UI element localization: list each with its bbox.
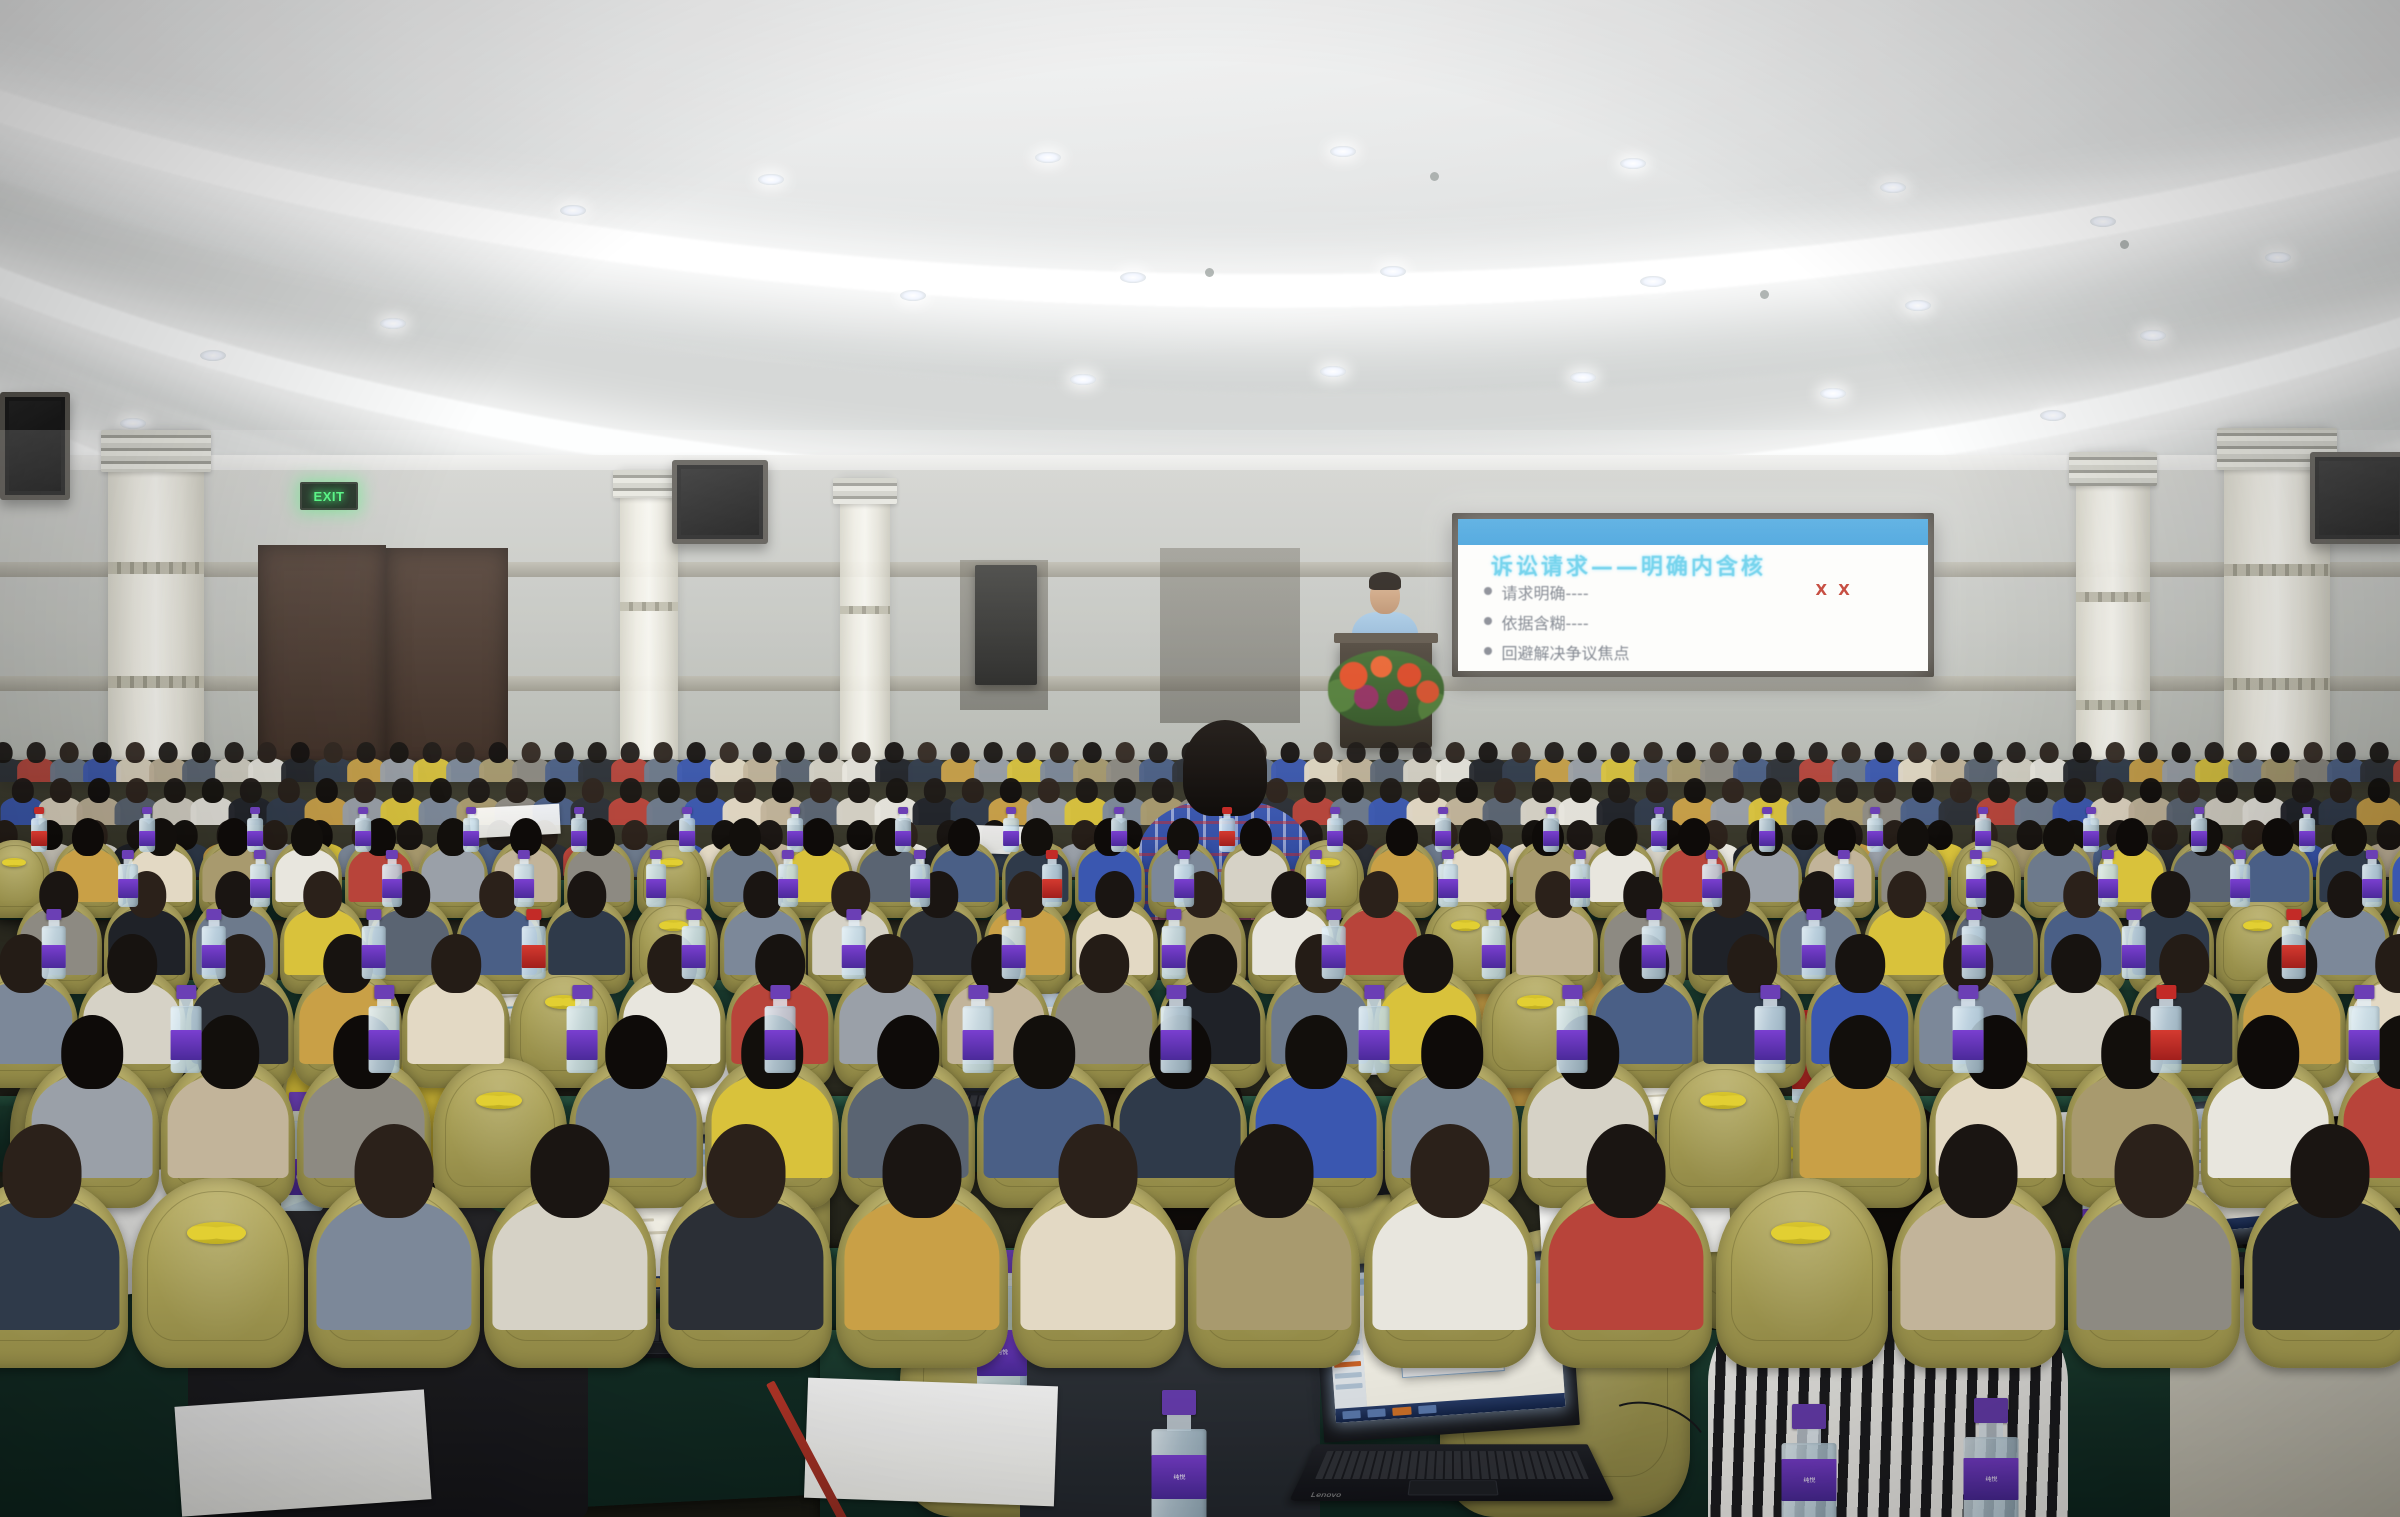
attendee-head (2063, 778, 2085, 803)
water-bottle[interactable] (367, 985, 401, 1072)
bottle-brand-text: 纯悦 (1173, 1474, 1185, 1480)
attendee-distant (1071, 778, 1102, 818)
attendee-head (1545, 742, 1564, 763)
attendee-torso (407, 982, 504, 1064)
attendee-head (125, 778, 147, 803)
water-bottle[interactable] (1357, 985, 1391, 1072)
downlight-icon (1820, 388, 1846, 399)
attendee-torso (1800, 1075, 1921, 1178)
bottle-label (2098, 879, 2118, 898)
water-bottle[interactable] (840, 909, 867, 978)
bottle-brand-text: 纯悦 (1803, 1477, 1815, 1483)
water-bottle[interactable] (513, 850, 535, 906)
attendee-distant (615, 778, 646, 818)
attendee-head (1075, 778, 1097, 803)
attendee (675, 1124, 816, 1305)
attendee-head (1776, 742, 1795, 763)
bottle-label (1111, 831, 1127, 846)
attendee-head (621, 742, 640, 763)
bottle-label (681, 945, 706, 969)
attendee-head (1587, 1124, 1666, 1218)
attendee-distant (1945, 778, 1976, 818)
sprinkler-icon (1430, 172, 1439, 181)
wall-monitor-center-left (672, 460, 768, 544)
attendee-head (1079, 934, 1129, 993)
attendee-head (87, 778, 109, 803)
water-bottle-red-cap[interactable] (2280, 909, 2307, 978)
water-bottle[interactable]: 纯悦 (1778, 1404, 1840, 1517)
bottle-label (1641, 945, 1666, 969)
attendee-distant (2249, 778, 2280, 818)
attendee-head (1569, 778, 1591, 803)
bottle-label (1327, 831, 1343, 846)
water-bottle[interactable] (1320, 909, 1347, 978)
water-bottle[interactable] (777, 850, 799, 906)
attendee-head (1493, 778, 1515, 803)
bottle-cap (1806, 909, 1821, 920)
attendee-distant (2135, 778, 2166, 818)
water-bottle[interactable] (763, 985, 797, 1072)
attendee (0, 1124, 113, 1305)
attendee-head (1721, 778, 1743, 803)
bottle-label (1174, 879, 1194, 898)
water-bottle[interactable] (1758, 807, 1776, 852)
downlight-icon (1570, 372, 1596, 383)
attendee-distant (947, 742, 973, 776)
water-bottle[interactable] (570, 807, 588, 852)
attendee-distant (2333, 742, 2359, 776)
column-trim-strip (840, 606, 890, 614)
bottle-cap (1178, 850, 1190, 859)
water-bottle[interactable] (354, 807, 372, 852)
water-bottle[interactable] (1305, 850, 1327, 906)
downlight-icon (1320, 366, 1346, 377)
chair-bow (1700, 1092, 1746, 1109)
water-bottle[interactable] (2120, 909, 2147, 978)
chair-bow (187, 1222, 245, 1244)
attendee-head (531, 1124, 610, 1218)
column-trim-strip (620, 602, 678, 611)
bottle-cap (1006, 909, 1021, 920)
attendee-torso (168, 1075, 289, 1178)
attendee-distant (2363, 778, 2394, 818)
attendee-head (877, 1015, 939, 1089)
water-bottle[interactable] (1701, 850, 1723, 906)
bottle-cap (2366, 850, 2378, 859)
attendee-head (2367, 778, 2389, 803)
attendee-head (1379, 778, 1401, 803)
water-bottle[interactable] (961, 985, 995, 1072)
bottle-cap (1222, 807, 1232, 814)
attendee-head (885, 742, 904, 763)
bottle-cap (1563, 985, 1582, 999)
water-bottle[interactable] (1326, 807, 1344, 852)
bottle-cap (969, 985, 988, 999)
attendee-distant (1310, 742, 1336, 776)
attendee-head (72, 818, 104, 857)
bottle-label (1966, 879, 1986, 898)
attendee-head (357, 742, 376, 763)
attendee-distant (452, 742, 478, 776)
attendee (1379, 1124, 1520, 1305)
bottle-label (1321, 945, 1346, 969)
attendee (551, 871, 622, 962)
water-bottle[interactable] (2190, 807, 2208, 852)
water-bottle[interactable] (680, 909, 707, 978)
attendee-head (1380, 742, 1399, 763)
banquet-chair[interactable] (1716, 1178, 1888, 1368)
attendee-torso (1516, 909, 1594, 975)
attendee-head (1403, 934, 1453, 993)
doorway[interactable] (386, 548, 508, 773)
water-bottle[interactable] (1434, 807, 1452, 852)
presenter-hair (1369, 572, 1401, 590)
attendee-head (847, 778, 869, 803)
attendee-torso (2252, 1200, 2400, 1330)
water-bottle[interactable] (786, 807, 804, 852)
water-bottle[interactable] (1965, 850, 1987, 906)
water-bottle[interactable] (2361, 850, 2383, 906)
attendee-head (3, 1124, 82, 1218)
attendee-head (1835, 934, 1885, 993)
bottle-cap (846, 909, 861, 920)
attendee-head (567, 871, 606, 918)
bottle-label (41, 945, 66, 969)
water-bottle[interactable] (1480, 909, 1507, 978)
laptop-base[interactable]: Lenovo (1289, 1444, 1615, 1501)
bottle-label (2083, 831, 2099, 846)
water-bottle-red-cap[interactable] (1041, 850, 1063, 906)
slide-title: 诉讼请求——明确内含核 (1491, 549, 1766, 581)
bottle-cap (1330, 807, 1340, 814)
wall-monitor-right (2310, 452, 2400, 544)
attendee-head (1887, 871, 1926, 918)
bottle-cap (2194, 807, 2204, 814)
attendee-torso (2246, 849, 2309, 902)
attendee-distant (2267, 742, 2293, 776)
chair-bow (476, 1092, 522, 1109)
attendee-head (1743, 742, 1762, 763)
water-bottle[interactable] (40, 909, 67, 978)
attendee-distant (254, 742, 280, 776)
attendee-distant (1673, 742, 1699, 776)
attendee-head (2139, 742, 2158, 763)
attendee-distant (188, 742, 214, 776)
downlight-icon (560, 205, 586, 216)
bottle-cap (2157, 985, 2176, 999)
attendee-head (2215, 778, 2237, 803)
attendee-torso (2076, 1200, 2231, 1330)
bottle-label (1759, 831, 1775, 846)
water-bottle[interactable] (1569, 850, 1591, 906)
water-bottle[interactable] (249, 850, 271, 906)
attendee-head (2271, 742, 2290, 763)
downlight-icon (1905, 300, 1931, 311)
attendee (412, 934, 501, 1048)
column-capital (101, 430, 211, 472)
attendee-distant (2069, 742, 2095, 776)
attendee-head (657, 778, 679, 803)
bottle-cap (358, 807, 368, 814)
water-bottle[interactable] (169, 985, 203, 1072)
attendee-torso (668, 1200, 823, 1330)
attendee-head (192, 742, 211, 763)
attendee-distant (729, 778, 760, 818)
column-trim-strip (108, 562, 204, 574)
attendee-head (391, 778, 413, 803)
decorative-column (840, 478, 890, 770)
attendee-head (1911, 778, 1933, 803)
water-bottle[interactable] (2082, 807, 2100, 852)
water-bottle[interactable] (1951, 985, 1985, 1072)
attendee-head (1605, 818, 1637, 857)
chair-bow (1517, 995, 1554, 1009)
bottle-label (1961, 945, 1986, 969)
attendee-head (291, 818, 323, 857)
bottle-cap (2302, 807, 2312, 814)
attendee-head (159, 742, 178, 763)
attendee-head (1512, 742, 1531, 763)
attendee-head (1116, 742, 1135, 763)
attendee-head (1417, 778, 1439, 803)
water-bottle[interactable] (462, 807, 480, 852)
attendee-distant (425, 778, 456, 818)
slide-header-bar (1458, 519, 1928, 545)
attendee-distant (1607, 742, 1633, 776)
water-bottle-red-cap[interactable] (2149, 985, 2183, 1072)
water-bottle[interactable] (1640, 909, 1667, 978)
wall-monitor-left (0, 392, 70, 500)
bottle-label (2151, 1030, 2182, 1060)
attendee-distant (1013, 742, 1039, 776)
attendee-head (961, 778, 983, 803)
attendee-head (1113, 778, 1135, 803)
water-bottle[interactable] (1542, 807, 1560, 852)
water-bottle[interactable] (360, 909, 387, 978)
bottle-cap (2126, 909, 2141, 920)
water-bottle[interactable] (2347, 985, 2381, 1072)
attendee-head (225, 742, 244, 763)
bottle-label (646, 879, 666, 898)
attendee-head (1183, 720, 1267, 816)
water-bottle[interactable] (1753, 985, 1787, 1072)
bottle-cap (366, 909, 381, 920)
attendee-head (1683, 778, 1705, 803)
water-bottle[interactable] (1000, 909, 1027, 978)
water-bottle[interactable] (117, 850, 139, 906)
doorway[interactable] (258, 545, 386, 775)
attendee-head (2177, 778, 2199, 803)
attendee-distant (1970, 742, 1996, 776)
bottle-label: 纯悦 (1964, 1458, 2019, 1500)
downlight-icon (900, 290, 926, 301)
attendee-distant (1805, 742, 1831, 776)
attendee-head (258, 742, 277, 763)
downlight-icon (2040, 410, 2066, 421)
attendee-distant (353, 742, 379, 776)
water-bottle[interactable]: 纯悦 (1960, 1398, 2022, 1517)
water-bottle[interactable] (1866, 807, 1884, 852)
column-trim-strip (108, 676, 204, 688)
attendee-head (918, 742, 937, 763)
attendee-head (1083, 742, 1102, 763)
bottle-cap (1162, 1390, 1196, 1415)
attendee-distant (1489, 778, 1520, 818)
bottle-cap (1365, 985, 1384, 999)
bottle-cap (1966, 909, 1981, 920)
attendee-head (2172, 742, 2191, 763)
loudspeaker-cabinet (975, 565, 1037, 685)
attendee-head (49, 778, 71, 803)
attendee (2083, 1124, 2224, 1305)
attendee-distant (2097, 778, 2128, 818)
attendee-head (1095, 871, 1134, 918)
exit-sign: EXIT (300, 482, 358, 510)
attendee-distant (716, 742, 742, 776)
water-bottle[interactable] (381, 850, 403, 906)
water-bottle[interactable]: 纯悦 (1148, 1390, 1210, 1517)
banquet-chair[interactable] (132, 1178, 304, 1368)
bottle-label (2349, 1030, 2380, 1060)
water-bottle[interactable] (909, 850, 931, 906)
water-bottle[interactable] (1110, 807, 1128, 852)
bottle-cap (1486, 909, 1501, 920)
water-bottle[interactable] (2229, 850, 2251, 906)
attendee-distant (273, 778, 304, 818)
attendee-head (93, 742, 112, 763)
attendee-distant (155, 742, 181, 776)
water-bottle[interactable] (565, 985, 599, 1072)
bottle-cap (1978, 807, 1988, 814)
attendee-head (2106, 742, 2125, 763)
water-bottle[interactable] (1555, 985, 1589, 1072)
attendee (1555, 1124, 1696, 1305)
bottle-cap (1870, 807, 1880, 814)
bottle-label (1651, 831, 1667, 846)
attendee-distant (1640, 742, 1666, 776)
water-bottle[interactable] (1833, 850, 1855, 906)
bottle-cap (1959, 985, 1978, 999)
laptop-trackpad[interactable] (1407, 1480, 1499, 1495)
attendee-head (1611, 742, 1630, 763)
bottle-label (2299, 831, 2315, 846)
water-bottle[interactable] (894, 807, 912, 852)
attendee (1805, 1015, 1915, 1158)
attendee-head (467, 778, 489, 803)
bottle-label (139, 831, 155, 846)
bottle-label (778, 879, 798, 898)
water-bottle[interactable] (1437, 850, 1459, 906)
water-bottle[interactable] (1173, 850, 1195, 906)
bottle-cap (1574, 850, 1586, 859)
attendee-distant (551, 742, 577, 776)
attendee-head (489, 742, 508, 763)
attendee-head (239, 778, 261, 803)
attendee-distant (650, 742, 676, 776)
slide-bullet: 回避解决争议焦点 (1482, 640, 1914, 664)
water-bottle[interactable] (2298, 807, 2316, 852)
bottle-cap (46, 909, 61, 920)
attendee-distant (518, 742, 544, 776)
bottle-label (118, 879, 138, 898)
bottle-label (1435, 831, 1451, 846)
attendee-head (163, 778, 185, 803)
water-bottle[interactable] (645, 850, 667, 906)
exit-sign-label: EXIT (314, 490, 345, 503)
attendee-distant (56, 742, 82, 776)
water-bottle-red-cap[interactable] (520, 909, 547, 978)
attendee-distant (1739, 742, 1765, 776)
bottle-label (1042, 879, 1062, 898)
water-bottle-red-cap[interactable] (30, 807, 48, 852)
attendee-head (60, 742, 79, 763)
attendee-head (863, 934, 913, 993)
sprinkler-icon (1760, 290, 1769, 299)
attendee-distant (1937, 742, 1963, 776)
attendee-distant (83, 778, 114, 818)
bottle-label (463, 831, 479, 846)
bottle-label (1001, 945, 1026, 969)
attendee-torso (1372, 1200, 1527, 1330)
water-bottle[interactable] (1960, 909, 1987, 978)
bottle-cap (1006, 807, 1016, 814)
laptop-brand-label: Lenovo (1309, 1492, 1342, 1499)
attendee-distant (2021, 778, 2052, 818)
attendee-head (1842, 742, 1861, 763)
bottle-cap (686, 909, 701, 920)
attendee-head (2329, 778, 2351, 803)
water-bottle[interactable] (2097, 850, 2119, 906)
attendee-distant (1907, 778, 1938, 818)
conference-hall-photo: EXIT 诉讼请求——明确内含核 请求明确---- 依据含糊---- 回避解决争… (0, 0, 2400, 1517)
bottle-label (521, 945, 546, 969)
attendee-distant (1904, 742, 1930, 776)
water-bottle-red-cap[interactable] (1218, 807, 1236, 852)
attendee-distant (1574, 742, 1600, 776)
water-bottle[interactable] (1974, 807, 1992, 852)
water-bottle[interactable] (1002, 807, 1020, 852)
attendee-head (2291, 778, 2313, 803)
downlight-icon (2140, 330, 2166, 341)
water-bottle[interactable] (1800, 909, 1827, 978)
attendee-distant (221, 742, 247, 776)
attendee-head (2238, 742, 2257, 763)
bottle-cap (1974, 1398, 2008, 1423)
attendee-distant (584, 742, 610, 776)
decorative-column (108, 430, 204, 775)
water-bottle[interactable] (200, 909, 227, 978)
attendee-head (583, 818, 615, 857)
laptop-keyboard[interactable] (1315, 1451, 1589, 1479)
attendee-distant (320, 742, 346, 776)
water-bottle[interactable] (246, 807, 264, 852)
water-bottle[interactable] (1650, 807, 1668, 852)
attendee-head (1421, 1015, 1483, 1089)
water-bottle[interactable] (678, 807, 696, 852)
bottle-cap (1326, 909, 1341, 920)
handout-sheet[interactable] (174, 1389, 431, 1516)
attendee-torso (492, 1200, 647, 1330)
water-bottle[interactable] (1160, 909, 1187, 978)
bottle-label (1867, 831, 1883, 846)
water-bottle[interactable] (1159, 985, 1193, 1072)
attendee-distant (386, 742, 412, 776)
handout-sheet[interactable] (804, 1378, 1058, 1507)
bottle-cap (254, 850, 266, 859)
lectern-top (1334, 633, 1438, 643)
water-bottle[interactable] (138, 807, 156, 852)
bottle-cap (1046, 850, 1058, 859)
